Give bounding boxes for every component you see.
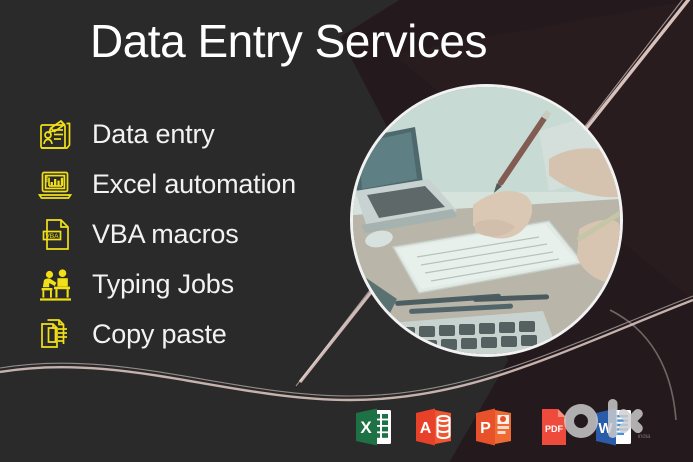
powerpoint-letter: P xyxy=(480,420,491,437)
vba-badge-text: VBA xyxy=(45,232,59,239)
service-item-excel-automation: Excel automation xyxy=(34,160,364,209)
person-typing-icon xyxy=(34,265,78,305)
access-icon: A xyxy=(415,407,453,447)
service-item-typing-jobs: Typing Jobs xyxy=(34,260,364,309)
hero-photo-circle xyxy=(350,84,623,357)
access-letter: A xyxy=(420,420,432,437)
laptop-chart-icon xyxy=(34,165,78,205)
poster-canvas: Data Entry Services Data entry xyxy=(0,0,693,462)
service-item-data-entry: Data entry xyxy=(34,110,364,159)
service-item-copy-paste: Copy paste xyxy=(34,310,364,359)
service-label: Typing Jobs xyxy=(92,269,234,300)
service-item-vba-macros: VBA VBA macros xyxy=(34,210,364,259)
excel-letter: X xyxy=(360,418,372,437)
hero-photo-image xyxy=(353,87,620,354)
service-label: Data entry xyxy=(92,119,215,150)
olx-watermark: india xyxy=(558,398,680,450)
service-label: VBA macros xyxy=(92,219,239,250)
service-label: Excel automation xyxy=(92,169,296,200)
clipboard-form-icon xyxy=(34,115,78,155)
vba-file-icon: VBA xyxy=(34,215,78,255)
copy-documents-icon xyxy=(34,315,78,355)
services-list: Data entry Excel au xyxy=(34,110,364,360)
olx-subtext: india xyxy=(638,434,651,440)
service-label: Copy paste xyxy=(92,319,227,350)
excel-icon: X xyxy=(355,407,393,447)
page-title: Data Entry Services xyxy=(90,14,487,68)
powerpoint-icon: P xyxy=(475,407,513,447)
